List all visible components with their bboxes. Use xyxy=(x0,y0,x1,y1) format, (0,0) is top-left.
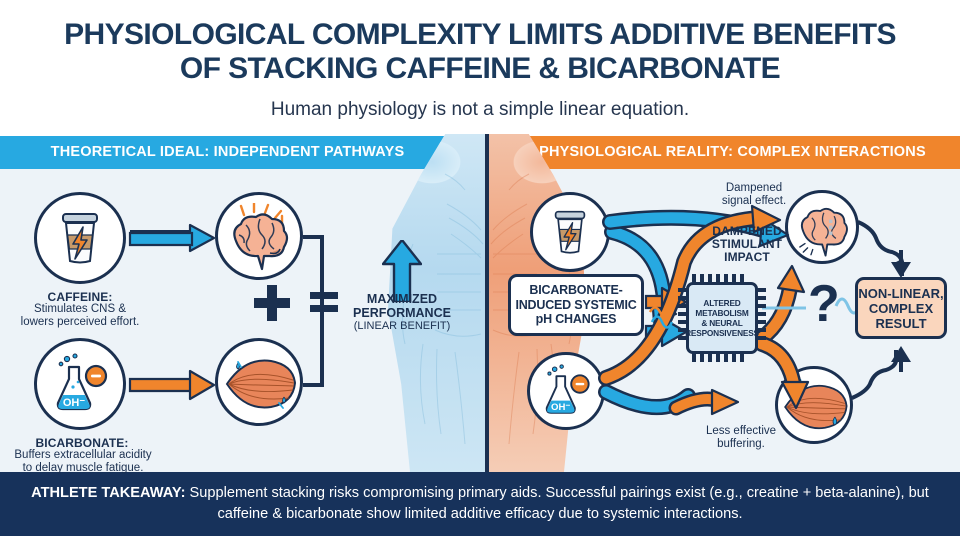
result-line-1: NON-LINEAR, xyxy=(858,286,943,301)
page-title: PHYSIOLOGICAL COMPLEXITY LIMITS ADDITIVE… xyxy=(0,18,960,86)
ph-box-line-2: INDUCED SYSTEMIC xyxy=(515,298,636,313)
dampened-note-2: signal effect. xyxy=(700,195,808,209)
altered-metabolism-chip: ALTERED METABOLISM & NEURAL RESPONSIVENE… xyxy=(686,282,758,354)
brain-node-left xyxy=(215,192,303,280)
chip-line-4: RESPONSIVENESS xyxy=(685,328,759,338)
outcome-line-1: MAXIMIZED xyxy=(348,292,456,306)
dampened-impact-1: DAMPENED xyxy=(700,224,794,238)
infographic-root: PHYSIOLOGICAL COMPLEXITY LIMITS ADDITIVE… xyxy=(0,0,960,536)
muscle-fiber-icon xyxy=(221,353,299,415)
brain-activated-icon xyxy=(222,203,296,273)
caffeine-title: CAFFEINE: xyxy=(10,290,150,304)
dampened-note-1: Dampened xyxy=(700,182,808,196)
takeaway-lead: ATHLETE TAKEAWAY: xyxy=(31,485,185,501)
athlete-takeaway-banner: ATHLETE TAKEAWAY: Supplement stacking ri… xyxy=(0,472,960,536)
chip-line-1: ALTERED xyxy=(703,298,740,308)
equals-operator-icon xyxy=(310,288,338,316)
result-line-3: RESULT xyxy=(875,316,926,331)
question-mark: ? xyxy=(808,278,840,330)
buffering-note-2: buffering. xyxy=(688,438,794,452)
outcome-line-3: (LINEAR BENEFIT) xyxy=(344,320,460,332)
buffering-note-1: Less effective xyxy=(688,425,794,439)
svg-text:OH⁻: OH⁻ xyxy=(551,402,570,413)
plus-operator-icon xyxy=(252,283,292,323)
coffee-cup-lightning-icon xyxy=(54,209,106,267)
muscle-node-left xyxy=(215,338,303,426)
flask-oh-minus-icon: OH⁻ xyxy=(49,353,111,415)
panel-divider xyxy=(485,134,489,472)
bicarbonate-desc-2: to delay muscle fatigue. xyxy=(0,462,166,476)
title-line-1: PHYSIOLOGICAL COMPLEXITY LIMITS ADDITIVE… xyxy=(0,18,960,52)
outcome-line-2: PERFORMANCE xyxy=(344,306,460,320)
caffeine-node-left xyxy=(34,192,126,284)
bicarbonate-node-left: OH⁻ xyxy=(34,338,126,430)
dampened-impact-3: IMPACT xyxy=(700,250,794,264)
caffeine-node-right xyxy=(530,192,610,272)
chip-line-3: & NEURAL xyxy=(701,318,742,328)
dampened-impact-2: STIMULANT xyxy=(700,237,794,251)
bicarbonate-desc-1: Buffers extracellular acidity xyxy=(0,449,166,463)
ph-box-line-3: pH CHANGES xyxy=(536,312,617,327)
caffeine-desc-1: Stimulates CNS & xyxy=(4,303,156,317)
bicarbonate-title: BICARBONATE: xyxy=(4,436,160,450)
result-line-2: COMPLEX xyxy=(869,301,933,316)
chip-line-2: METABOLISM xyxy=(695,308,748,318)
ph-box-line-1: BICARBONATE- xyxy=(529,283,622,298)
takeaway-body: Supplement stacking risks compromising p… xyxy=(185,485,928,522)
result-box: NON-LINEAR, COMPLEX RESULT xyxy=(855,277,947,339)
coffee-cup-lightning-icon xyxy=(548,207,592,257)
ph-changes-box: BICARBONATE- INDUCED SYSTEMIC pH CHANGES xyxy=(508,274,644,336)
subtitle: Human physiology is not a simple linear … xyxy=(0,99,960,121)
title-line-2: OF STACKING CAFFEINE & BICARBONATE xyxy=(0,52,960,86)
flask-oh-label: OH⁻ xyxy=(63,397,86,409)
bicarbonate-node-right: OH⁻ xyxy=(527,352,605,430)
caffeine-desc-2: lowers perceived effort. xyxy=(4,316,156,330)
athlete-takeaway-text: ATHLETE TAKEAWAY: Supplement stacking ri… xyxy=(30,483,930,525)
flask-oh-minus-icon: OH⁻ xyxy=(539,364,593,418)
